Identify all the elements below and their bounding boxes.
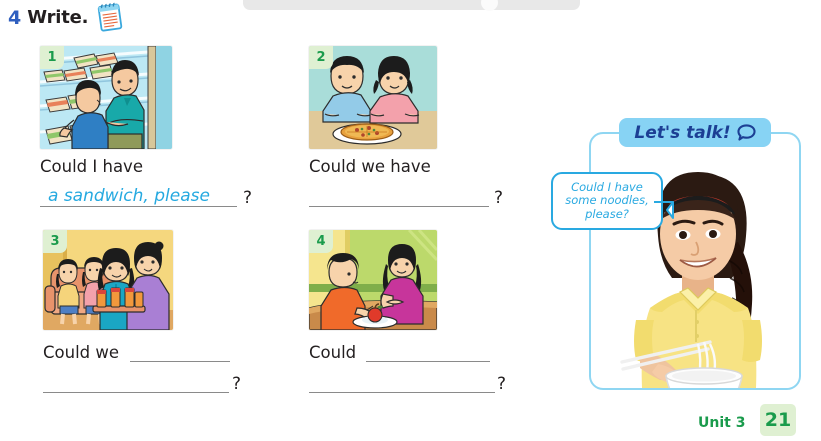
item-number-badge-4: 4 bbox=[309, 230, 333, 253]
item-question-mark-2: ? bbox=[494, 188, 503, 208]
speech-bubble-tail bbox=[653, 198, 679, 224]
item-answer-line-1[interactable] bbox=[40, 206, 237, 207]
lets-talk-badge: Let's talk! bbox=[619, 118, 771, 147]
bubble-line-3: please? bbox=[585, 208, 629, 222]
item-answer-line-4a[interactable] bbox=[366, 361, 490, 362]
bubble-line-1: Could I have bbox=[571, 181, 643, 195]
item-question-mark-3: ? bbox=[232, 374, 241, 394]
item-image-2: 2 bbox=[309, 46, 437, 149]
toolbar-knob[interactable] bbox=[481, 0, 498, 11]
item-prompt-4: Could bbox=[309, 343, 356, 362]
item-image-3: 3 bbox=[43, 230, 173, 330]
lets-talk-speech-bubble: Could I have some noodles, please? bbox=[551, 172, 663, 230]
footer-unit-label: Unit 3 bbox=[698, 415, 745, 431]
item-prompt-3: Could we bbox=[43, 343, 119, 362]
notepad-icon bbox=[95, 2, 126, 33]
item-answer-text-1: a sandwich, please bbox=[48, 186, 210, 206]
item-answer-line-3b[interactable] bbox=[43, 392, 229, 393]
item-answer-line-2[interactable] bbox=[309, 206, 489, 207]
exercise-label: Write. bbox=[27, 7, 88, 28]
item-question-mark-1: ? bbox=[243, 188, 252, 208]
item-number-badge-1: 1 bbox=[40, 46, 64, 69]
bubble-line-2: some noodles, bbox=[565, 194, 649, 208]
item-answer-line-4b[interactable] bbox=[309, 392, 495, 393]
footer-page-number: 21 bbox=[760, 404, 796, 436]
speech-bubble-icon bbox=[737, 124, 756, 141]
item-number-badge-2: 2 bbox=[309, 46, 333, 69]
item-image-4: 4 bbox=[309, 230, 437, 330]
top-toolbar[interactable] bbox=[243, 0, 580, 10]
lets-talk-label: Let's talk! bbox=[634, 123, 730, 143]
item-prompt-1: Could I have bbox=[40, 157, 143, 176]
item-prompt-2: Could we have bbox=[309, 157, 431, 176]
item-question-mark-4: ? bbox=[497, 374, 506, 394]
item-image-1: 1 bbox=[40, 46, 172, 149]
item-number-badge-3: 3 bbox=[43, 230, 67, 253]
item-answer-line-3a[interactable] bbox=[130, 361, 230, 362]
exercise-heading: 4 Write. bbox=[8, 2, 126, 33]
exercise-number: 4 bbox=[8, 7, 21, 29]
